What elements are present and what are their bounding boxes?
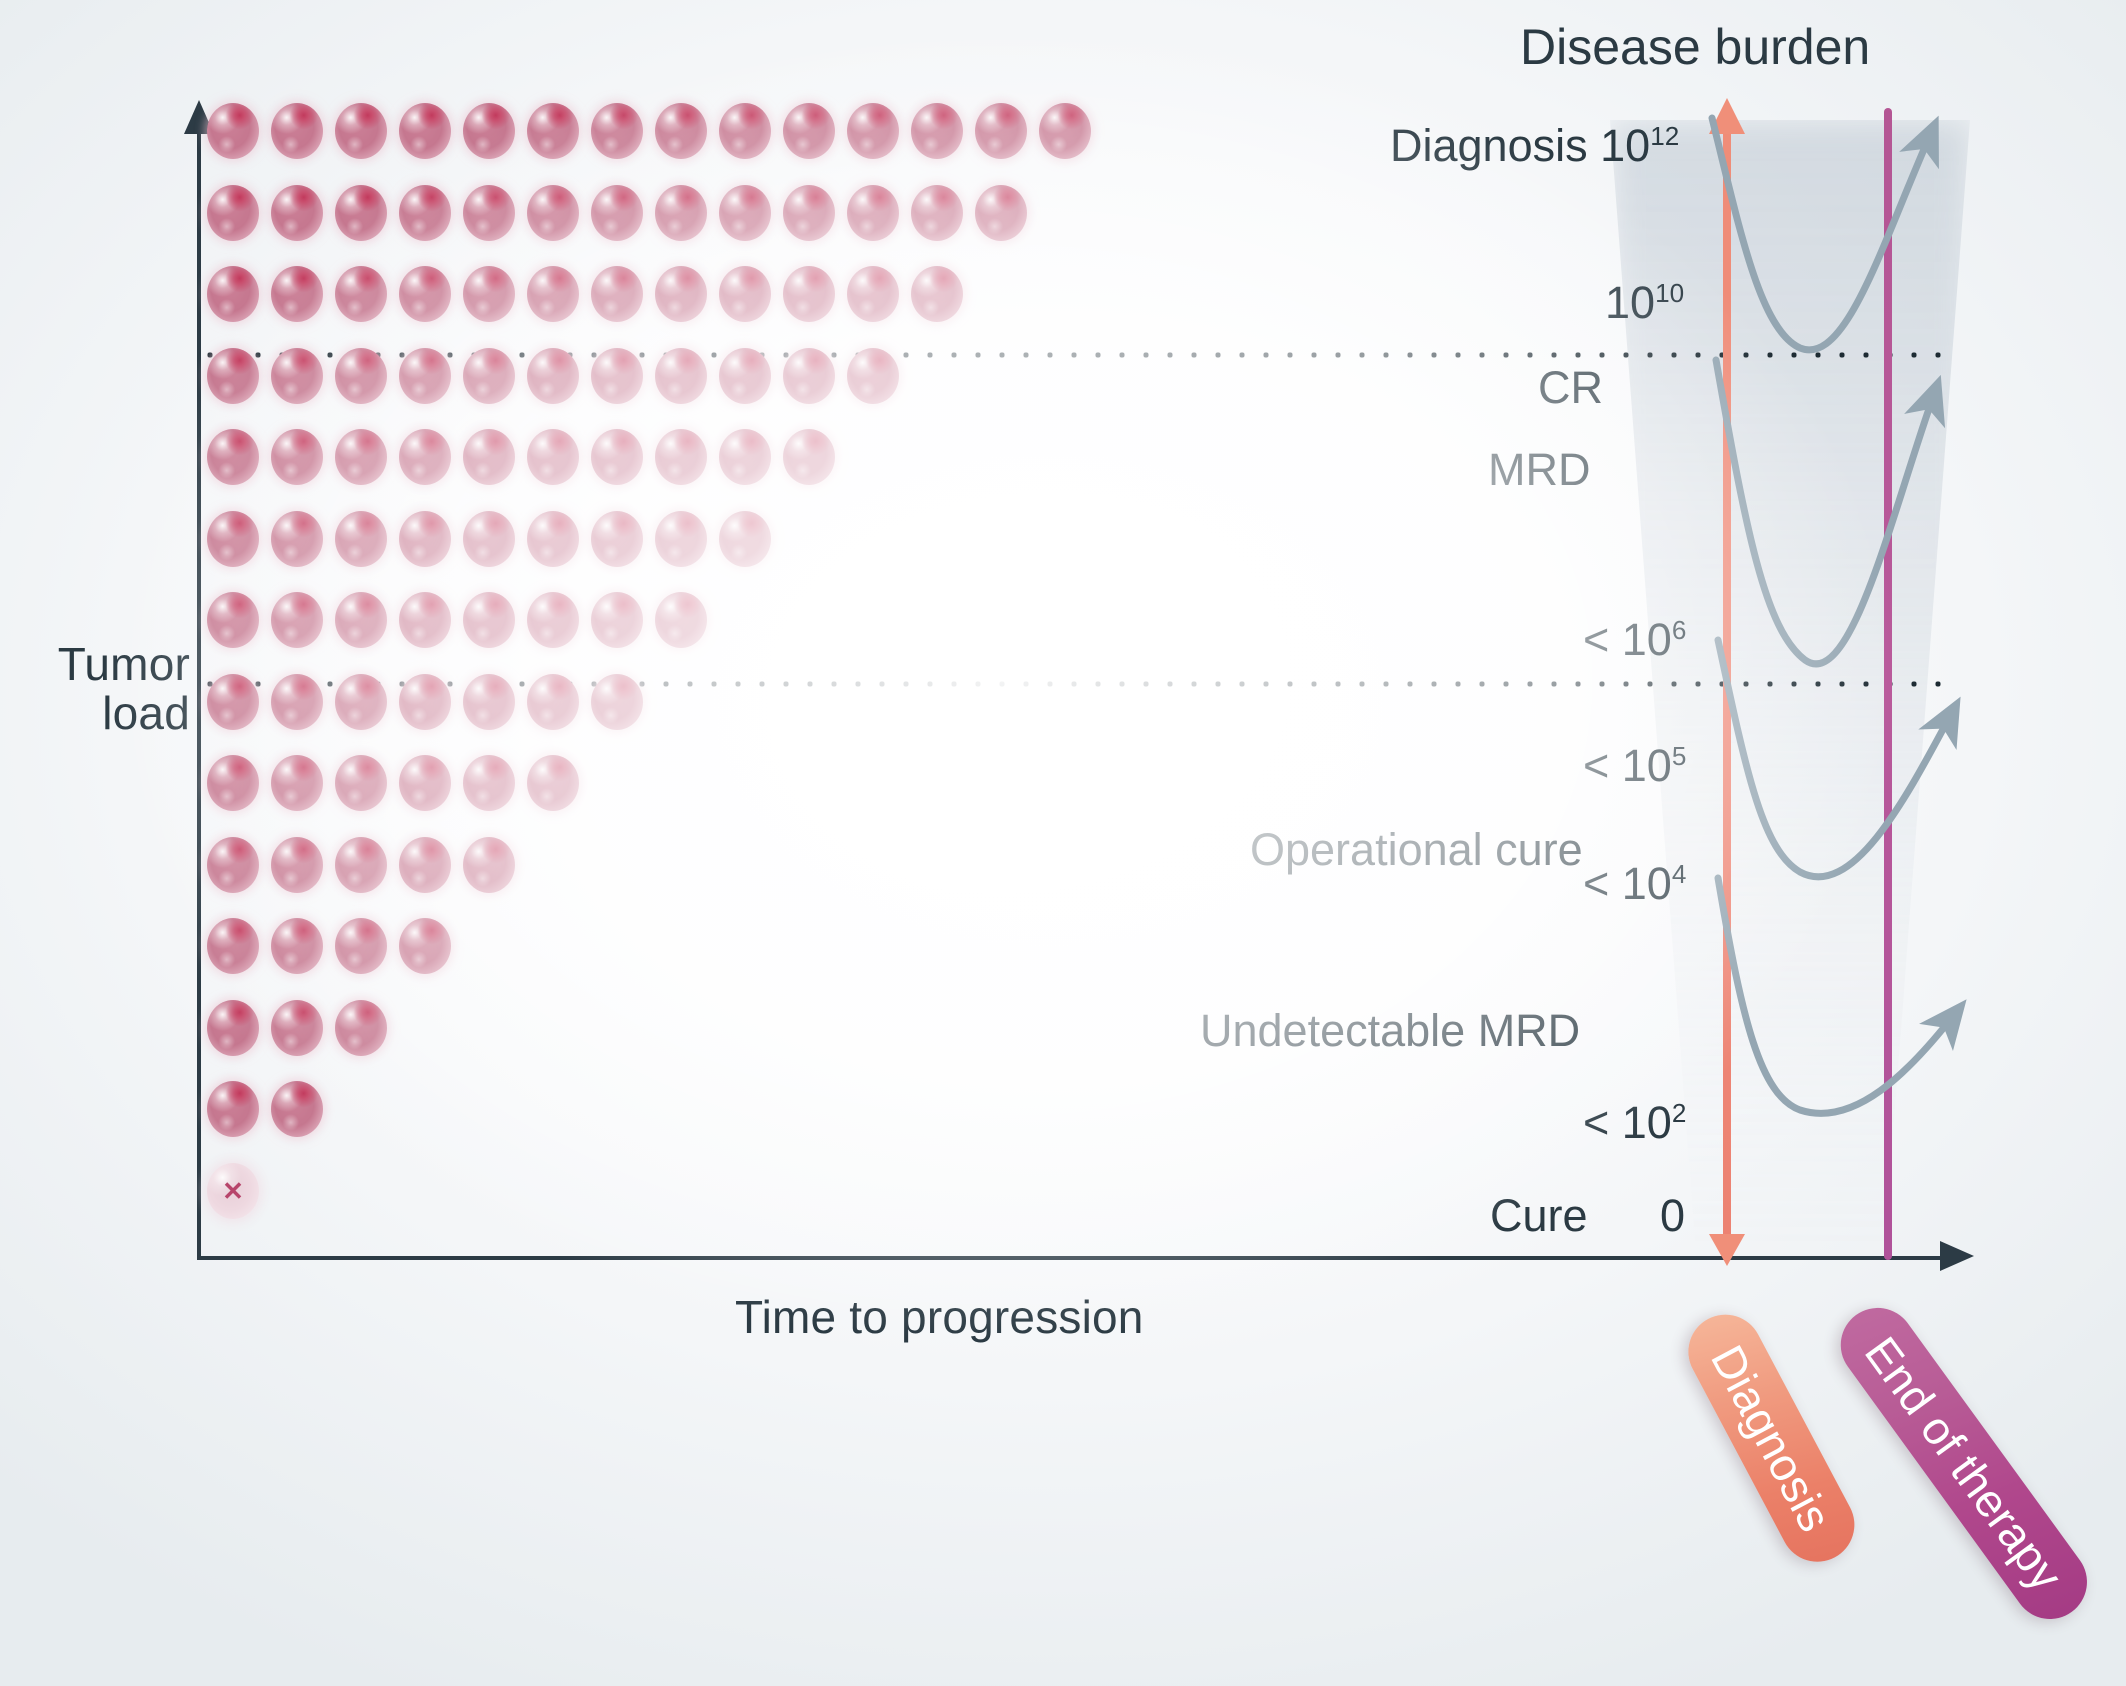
tumor-cell bbox=[847, 185, 899, 241]
tumor-cell bbox=[271, 1081, 323, 1137]
end-of-therapy-event-line bbox=[1884, 108, 1892, 1260]
tumor-cell-row bbox=[207, 511, 783, 567]
tumor-cell bbox=[847, 103, 899, 159]
tumor-cell bbox=[335, 918, 387, 974]
tumor-cell bbox=[783, 103, 835, 159]
tumor-cell-row bbox=[207, 266, 975, 322]
tumor-cell bbox=[527, 348, 579, 404]
tumor-cell bbox=[719, 266, 771, 322]
tumor-cell bbox=[207, 103, 259, 159]
burden-value-lt-10-4: < 104 bbox=[1583, 858, 1686, 910]
tumor-cell bbox=[655, 429, 707, 485]
tumor-cell bbox=[847, 348, 899, 404]
burden-label-undetectable-mrd: Undetectable MRD bbox=[1200, 1005, 1580, 1057]
tumor-cell-row bbox=[207, 755, 591, 811]
tumor-cell bbox=[591, 348, 643, 404]
tumor-cell-row bbox=[207, 1163, 271, 1219]
tumor-cell bbox=[335, 674, 387, 730]
tumor-cell bbox=[655, 103, 707, 159]
dead-tumor-cell bbox=[207, 1163, 259, 1219]
tumor-cell bbox=[783, 348, 835, 404]
burden-label-diagnosis-text: Diagnosis bbox=[1390, 120, 1588, 171]
tumor-cell bbox=[591, 103, 643, 159]
tumor-cell bbox=[271, 918, 323, 974]
tumor-cell bbox=[655, 511, 707, 567]
tumor-cell bbox=[463, 185, 515, 241]
tumor-cell bbox=[271, 755, 323, 811]
tumor-cell bbox=[719, 511, 771, 567]
tumor-cell bbox=[527, 674, 579, 730]
tumor-cell bbox=[527, 185, 579, 241]
tumor-cell bbox=[335, 837, 387, 893]
burden-label-cure: Cure bbox=[1490, 1190, 1588, 1242]
burden-value-10-12: 1012 bbox=[1600, 120, 1679, 171]
tumor-cell bbox=[207, 429, 259, 485]
tumor-cell bbox=[335, 511, 387, 567]
tumor-cell bbox=[527, 592, 579, 648]
tumor-cell bbox=[271, 429, 323, 485]
tumor-cell bbox=[335, 592, 387, 648]
tumor-cell bbox=[911, 266, 963, 322]
tumor-cell bbox=[335, 1000, 387, 1056]
tumor-cell bbox=[399, 755, 451, 811]
tumor-cell bbox=[463, 837, 515, 893]
tumor-cell bbox=[527, 429, 579, 485]
tumor-cell bbox=[335, 348, 387, 404]
tumor-cell bbox=[783, 266, 835, 322]
tumor-cell-row bbox=[207, 592, 719, 648]
tumor-cell bbox=[207, 592, 259, 648]
tumor-cell bbox=[1039, 103, 1091, 159]
burden-value-zero: 0 bbox=[1660, 1190, 1685, 1242]
tumor-cell bbox=[271, 266, 323, 322]
tumor-cell bbox=[271, 837, 323, 893]
tumor-cell-row bbox=[207, 348, 911, 404]
tumor-cell bbox=[207, 674, 259, 730]
tumor-cell bbox=[207, 755, 259, 811]
tumor-cell bbox=[335, 429, 387, 485]
burden-value-lt-10-6: < 106 bbox=[1583, 614, 1686, 666]
tumor-cell bbox=[399, 918, 451, 974]
tumor-cell-row bbox=[207, 674, 655, 730]
tumor-cell-row bbox=[207, 103, 1103, 159]
tumor-cell bbox=[783, 429, 835, 485]
tumor-cell bbox=[271, 674, 323, 730]
tumor-cell bbox=[655, 185, 707, 241]
diagnosis-event-line bbox=[1723, 118, 1731, 1260]
tumor-cell bbox=[591, 266, 643, 322]
tumor-cell-row bbox=[207, 837, 527, 893]
tumor-cell-row bbox=[207, 429, 847, 485]
tumor-cell bbox=[911, 103, 963, 159]
tumor-cell bbox=[271, 103, 323, 159]
tumor-cell bbox=[399, 429, 451, 485]
tumor-cell bbox=[463, 755, 515, 811]
figure-canvas: Tumor load Time to progression Disease b… bbox=[0, 0, 2126, 1686]
tumor-cell-row bbox=[207, 1000, 399, 1056]
tumor-cell bbox=[975, 103, 1027, 159]
tumor-cell bbox=[399, 266, 451, 322]
burden-value-10-10: 1010 bbox=[1605, 277, 1684, 329]
tumor-cell bbox=[463, 103, 515, 159]
tumor-cell bbox=[527, 511, 579, 567]
tumor-cell bbox=[463, 348, 515, 404]
tumor-cell bbox=[591, 674, 643, 730]
tumor-cell bbox=[335, 266, 387, 322]
tumor-cell bbox=[399, 837, 451, 893]
diagnosis-line-arrowhead-down bbox=[1709, 1234, 1745, 1266]
tumor-cell bbox=[527, 103, 579, 159]
tumor-cell bbox=[207, 348, 259, 404]
burden-label-cr: CR bbox=[1538, 362, 1603, 414]
tumor-cell bbox=[399, 674, 451, 730]
tumor-cell bbox=[783, 185, 835, 241]
tumor-cell-row bbox=[207, 1081, 335, 1137]
diagnosis-line-arrowhead-up bbox=[1709, 98, 1745, 134]
burden-value-lt-10-5: < 105 bbox=[1583, 740, 1686, 792]
tumor-cell bbox=[463, 674, 515, 730]
tumor-cell bbox=[271, 1000, 323, 1056]
tumor-cell bbox=[335, 755, 387, 811]
tumor-cell bbox=[207, 1081, 259, 1137]
tumor-cell bbox=[719, 185, 771, 241]
tumor-cell bbox=[207, 918, 259, 974]
tumor-cell bbox=[527, 266, 579, 322]
tumor-cell bbox=[463, 592, 515, 648]
tumor-cell bbox=[655, 266, 707, 322]
tumor-cell bbox=[655, 592, 707, 648]
tumor-cell bbox=[207, 837, 259, 893]
tumor-cell bbox=[463, 511, 515, 567]
burden-label-operational-cure: Operational cure bbox=[1250, 824, 1583, 876]
tumor-cell bbox=[207, 266, 259, 322]
tumor-cell bbox=[399, 103, 451, 159]
tumor-cell-row bbox=[207, 918, 463, 974]
tumor-cell bbox=[975, 185, 1027, 241]
tumor-cell bbox=[207, 511, 259, 567]
tumor-cell bbox=[335, 185, 387, 241]
tumor-cell bbox=[591, 429, 643, 485]
tumor-cell bbox=[655, 348, 707, 404]
tumor-cell bbox=[335, 103, 387, 159]
tumor-cell bbox=[207, 185, 259, 241]
tumor-cell-row bbox=[207, 185, 1039, 241]
burden-value-lt-10-2: < 102 bbox=[1583, 1097, 1686, 1149]
disease-burden-title: Disease burden bbox=[1520, 18, 1870, 76]
burden-label-mrd: MRD bbox=[1488, 444, 1590, 496]
tumor-cell bbox=[207, 1000, 259, 1056]
tumor-cell bbox=[271, 511, 323, 567]
tumor-cell bbox=[271, 185, 323, 241]
tumor-cell bbox=[527, 755, 579, 811]
tumor-cell bbox=[271, 348, 323, 404]
tumor-cell bbox=[399, 511, 451, 567]
tumor-cell bbox=[719, 429, 771, 485]
tumor-cell bbox=[463, 266, 515, 322]
tumor-cell bbox=[847, 266, 899, 322]
tumor-cell bbox=[591, 592, 643, 648]
tumor-cell bbox=[399, 185, 451, 241]
tumor-cell bbox=[399, 348, 451, 404]
burden-label-diagnosis: Diagnosis 1012 bbox=[1390, 120, 1679, 172]
tumor-cell bbox=[719, 103, 771, 159]
tumor-cell bbox=[911, 185, 963, 241]
tumor-cell bbox=[719, 348, 771, 404]
tumor-cell bbox=[399, 592, 451, 648]
tumor-cell bbox=[463, 429, 515, 485]
tumor-cell bbox=[591, 511, 643, 567]
tumor-cell bbox=[591, 185, 643, 241]
tumor-cell bbox=[271, 592, 323, 648]
